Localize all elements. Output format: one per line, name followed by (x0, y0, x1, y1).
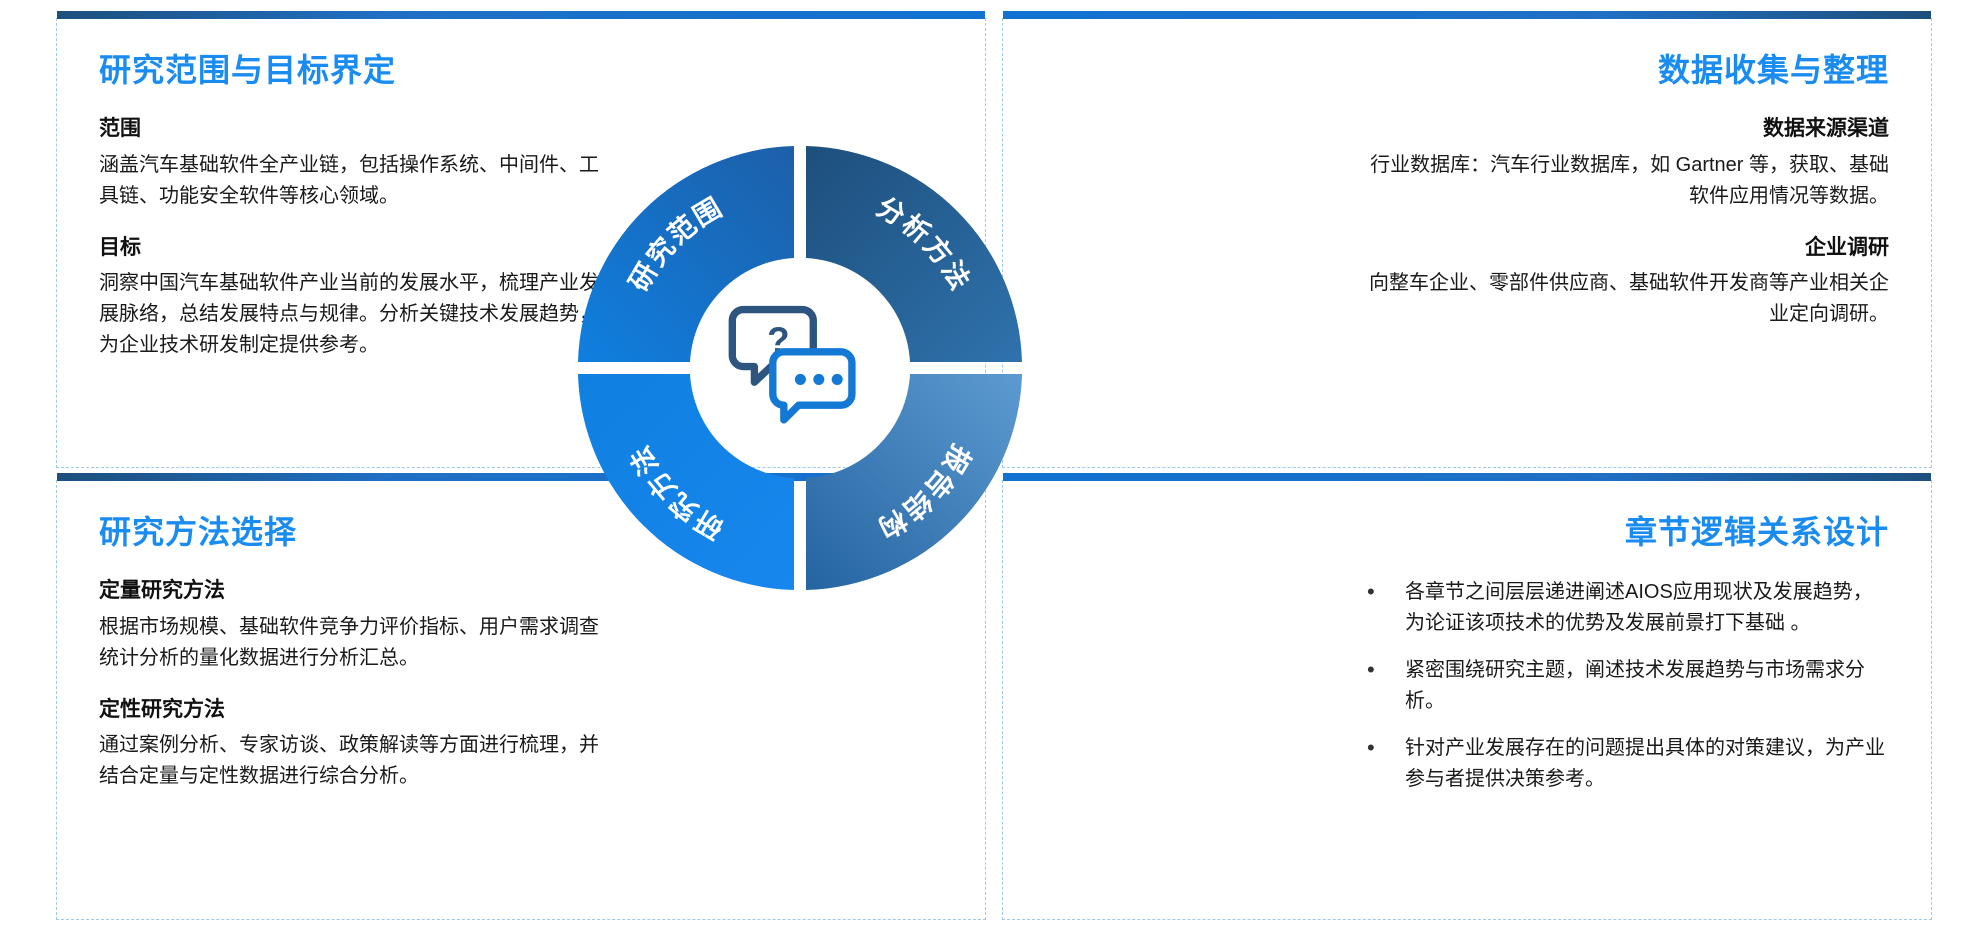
title-top-right: 数据收集与整理 (1045, 51, 1889, 89)
accent-bar-bottom-right (1003, 473, 1931, 481)
question-speech-bubble-icon: ? (732, 310, 852, 420)
subheading-data-sources: 数据来源渠道 (1359, 115, 1889, 143)
subheading-goal: 目标 (99, 234, 599, 262)
title-bottom-left: 研究方法选择 (99, 513, 609, 551)
list-item: 紧密围绕研究主题，阐述技术发展趋势与市场需求分析。 (1359, 655, 1889, 717)
donut-segment-research-method[interactable]: 研究方法 (578, 374, 794, 590)
subheading-qualitative: 定性研究方法 (99, 696, 609, 724)
donut-segment-analysis-method[interactable]: 分析方法 (806, 146, 1022, 362)
paragraph-data-sources: 行业数据库：汽车行业数据库，如 Gartner 等，获取、基础软件应用情况等数据… (1359, 150, 1889, 212)
title-bottom-right: 章节逻辑关系设计 (1045, 513, 1889, 551)
bullet-list-chapter-logic: 各章节之间层层递进阐述AIOS应用现状及发展趋势，为论证该项技术的优势及发展前景… (1359, 577, 1889, 795)
subheading-scope: 范围 (99, 115, 599, 143)
quadrant-top-right: 数据收集与整理 数据来源渠道 行业数据库：汽车行业数据库，如 Gartner 等… (1002, 18, 1932, 468)
paragraph-scope: 涵盖汽车基础软件全产业链，包括操作系统、中间件、工具链、功能安全软件等核心领域。 (99, 150, 599, 212)
paragraph-qualitative: 通过案例分析、专家访谈、政策解读等方面进行梳理，并结合定量与定性数据进行综合分析… (99, 730, 609, 792)
quadrant-bottom-right: 章节逻辑关系设计 各章节之间层层递进阐述AIOS应用现状及发展趋势，为论证该项技… (1002, 480, 1932, 920)
list-item: 各章节之间层层递进阐述AIOS应用现状及发展趋势，为论证该项技术的优势及发展前景… (1359, 577, 1889, 639)
subheading-enterprise-survey: 企业调研 (1359, 234, 1889, 262)
paragraph-enterprise-survey: 向整车企业、零部件供应商、基础软件开发商等产业相关企业定向调研。 (1359, 268, 1889, 330)
paragraph-goal: 洞察中国汽车基础软件产业当前的发展水平，梳理产业发展脉络，总结发展特点与规律。分… (99, 268, 599, 361)
list-item: 针对产业发展存在的问题提出具体的对策建议，为产业参与者提供决策参考。 (1359, 733, 1889, 795)
subheading-quantitative: 定量研究方法 (99, 577, 609, 605)
accent-bar-top-right (1003, 11, 1931, 19)
donut-segment-research-scope[interactable]: 研究范围 (578, 146, 794, 362)
center-donut-chart: 研究范围 分析方法 研究方法 报告结构 ? (568, 136, 1032, 600)
title-top-left: 研究范围与目标界定 (99, 51, 599, 89)
paragraph-quantitative: 根据市场规模、基础软件竞争力评价指标、用户需求调查统计分析的量化数据进行分析汇总… (99, 612, 609, 674)
accent-bar-top-left (57, 11, 985, 19)
